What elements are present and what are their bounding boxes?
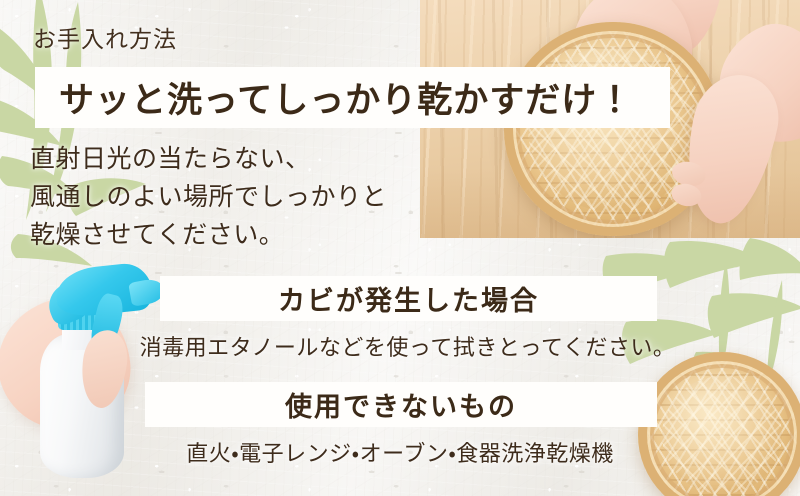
- care-instructions-panel: お手入れ方法 サッと洗ってしっかり乾かすだけ！ 直射日光の当たらない、 風通しの…: [0, 0, 800, 496]
- body-line-2: 風通しのよい場所でしっかりと: [30, 178, 420, 216]
- zaru-outer-rim: [638, 352, 800, 496]
- body-line-3: 乾燥させてください。: [30, 216, 420, 254]
- headline-banner: サッと洗ってしっかり乾かすだけ！: [35, 67, 670, 128]
- unusable-section-description: 直火・電子レンジ・オーブン・食器洗浄乾燥機: [120, 436, 680, 468]
- mold-section-title: カビが発生した場合: [278, 279, 539, 318]
- headline-text: サッと洗ってしっかり乾かすだけ！: [35, 72, 633, 123]
- bamboo-zaru: [638, 352, 800, 496]
- drying-instructions-paragraph: 直射日光の当たらない、 風通しのよい場所でしっかりと 乾燥させてください。: [30, 140, 420, 254]
- mold-section-description: 消毒用エタノールなどを使って拭きとってください。: [120, 330, 695, 362]
- photo-woven-zaru: [638, 352, 800, 496]
- mold-section-banner: カビが発生した場合: [160, 276, 657, 321]
- section-label: お手入れ方法: [33, 20, 177, 54]
- unusable-section-title: 使用できないもの: [285, 385, 517, 424]
- unusable-section-banner: 使用できないもの: [145, 382, 657, 427]
- body-line-1: 直射日光の当たらない、: [30, 140, 420, 178]
